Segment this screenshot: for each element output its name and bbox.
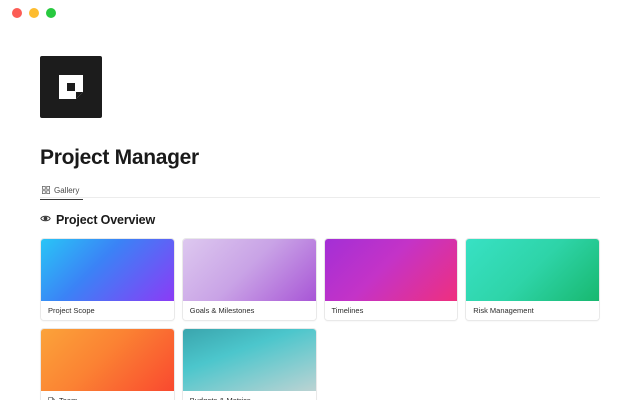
card-label: Budgets & Metrics — [183, 391, 316, 400]
section-header: Project Overview — [40, 211, 600, 229]
eye-icon — [40, 211, 51, 229]
app-window: Project Manager Gallery — [0, 0, 640, 400]
gallery-card[interactable]: Timelines — [324, 238, 459, 321]
gallery-card[interactable]: Team — [40, 328, 175, 400]
card-label-text: Risk Management — [473, 306, 533, 315]
card-thumbnail — [41, 329, 174, 391]
close-window-button[interactable] — [12, 8, 22, 18]
card-label-text: Budgets & Metrics — [190, 396, 251, 400]
page-content: Project Manager Gallery — [0, 56, 640, 400]
gallery-grid-icon — [42, 186, 50, 194]
note-square-icon — [56, 72, 86, 102]
tab-gallery[interactable]: Gallery — [40, 182, 83, 200]
page-title: Project Manager — [40, 146, 600, 169]
page-icon[interactable] — [40, 56, 102, 118]
card-thumbnail — [183, 239, 316, 301]
card-label: Team — [41, 391, 174, 400]
card-label-text: Team — [59, 396, 77, 400]
minimize-window-button[interactable] — [29, 8, 39, 18]
card-thumbnail — [183, 329, 316, 391]
card-thumbnail — [41, 239, 174, 301]
card-label-text: Goals & Milestones — [190, 306, 255, 315]
section-title: Project Overview — [56, 213, 155, 227]
card-label: Risk Management — [466, 301, 599, 320]
maximize-window-button[interactable] — [46, 8, 56, 18]
card-thumbnail — [466, 239, 599, 301]
card-label-text: Project Scope — [48, 306, 95, 315]
window-titlebar — [0, 0, 640, 26]
card-label: Goals & Milestones — [183, 301, 316, 320]
card-label: Timelines — [325, 301, 458, 320]
card-thumbnail — [325, 239, 458, 301]
gallery-card[interactable]: Budgets & Metrics — [182, 328, 317, 400]
view-tabstrip: Gallery — [40, 180, 600, 198]
card-label: Project Scope — [41, 301, 174, 320]
card-label-text: Timelines — [332, 306, 364, 315]
document-icon — [48, 397, 55, 400]
gallery-card[interactable]: Goals & Milestones — [182, 238, 317, 321]
gallery-card[interactable]: Risk Management — [465, 238, 600, 321]
gallery-grid: Project Scope Goals & Milestones Timelin… — [40, 238, 600, 400]
tab-gallery-label: Gallery — [54, 186, 79, 195]
gallery-card[interactable]: Project Scope — [40, 238, 175, 321]
